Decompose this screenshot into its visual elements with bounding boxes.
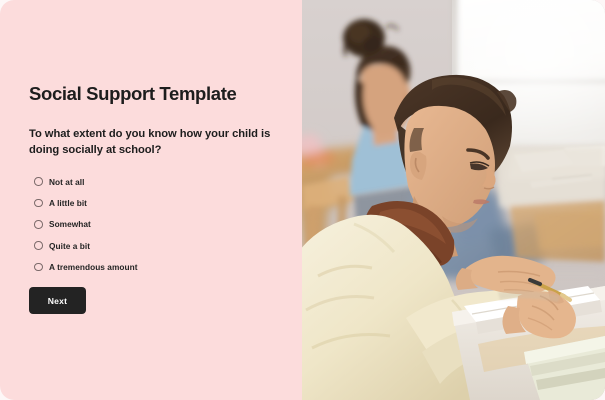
radio-option-label: Not at all [49,177,84,187]
radio-circle-icon[interactable] [34,177,43,186]
radio-circle-icon[interactable] [34,241,43,250]
page-title: Social Support Template [29,84,236,104]
classroom-photo-image [302,0,605,400]
classroom-photo [302,0,605,400]
radio-option-label: A little bit [49,198,87,208]
page-background: Social Support Template To what extent d… [0,0,605,400]
radio-option-somewhat[interactable]: Somewhat [34,214,274,235]
radio-option-label: Quite a bit [49,241,90,251]
radio-option-a-tremendous-amount[interactable]: A tremendous amount [34,257,274,278]
form-panel: Social Support Template To what extent d… [0,0,302,400]
survey-card: Social Support Template To what extent d… [0,0,605,400]
radio-circle-icon[interactable] [34,199,43,208]
radio-option-label: Somewhat [49,219,91,229]
radio-circle-icon[interactable] [34,220,43,229]
radio-group[interactable]: Not at all A little bit Somewhat Quite a… [34,171,274,278]
radio-option-quite-a-bit[interactable]: Quite a bit [34,235,274,256]
radio-option-a-little-bit[interactable]: A little bit [34,192,274,213]
next-button[interactable]: Next [29,287,86,314]
radio-circle-icon[interactable] [34,263,43,272]
radio-option-not-at-all[interactable]: Not at all [34,171,274,192]
question-text: To what extent do you know how your chil… [29,127,277,159]
radio-option-label: A tremendous amount [49,262,138,272]
